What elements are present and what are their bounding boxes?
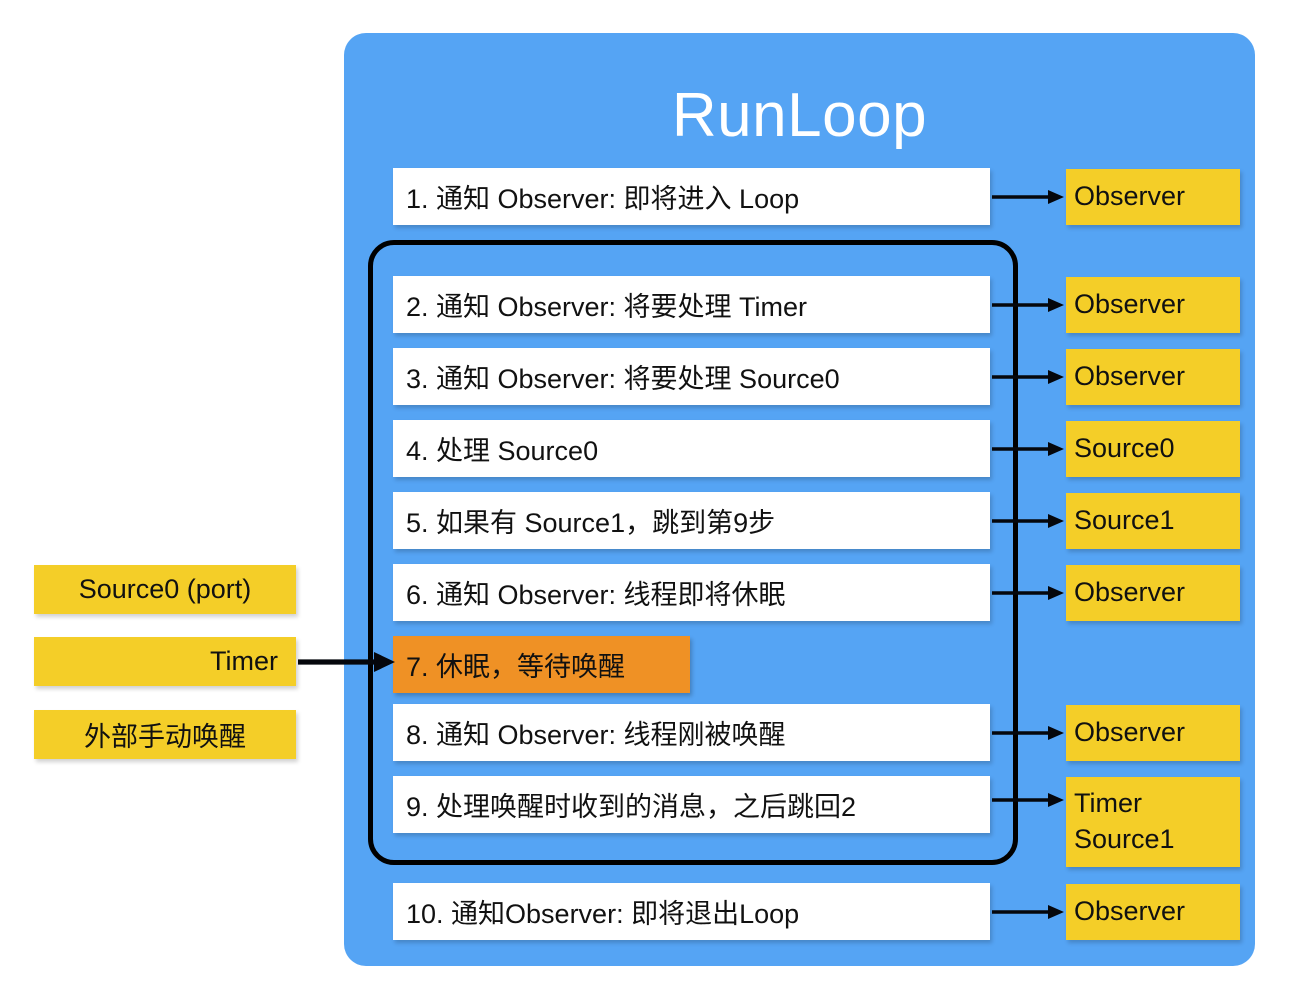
target-box-source0[interactable]: Source0 bbox=[1066, 421, 1240, 477]
wake-source-label: 外部手动唤醒 bbox=[84, 715, 246, 754]
step-label: 1. 通知 Observer: 即将进入 Loop bbox=[406, 177, 799, 216]
step-row-10[interactable]: 10. 通知Observer: 即将退出Loop bbox=[393, 883, 990, 940]
step-row-9[interactable]: 9. 处理唤醒时收到的消息，之后跳回2 bbox=[393, 776, 990, 833]
wake-source-timer[interactable]: Timer bbox=[34, 637, 296, 686]
step-row-6[interactable]: 6. 通知 Observer: 线程即将休眠 bbox=[393, 564, 990, 621]
wake-source-label: Timer bbox=[210, 646, 278, 677]
target-box-source1[interactable]: Source1 bbox=[1066, 493, 1240, 549]
step-label: 3. 通知 Observer: 将要处理 Source0 bbox=[406, 357, 840, 396]
target-box-observer-2[interactable]: Observer bbox=[1066, 277, 1240, 333]
page-title: RunLoop bbox=[344, 85, 1255, 147]
diagram-canvas: RunLoop 1. 通知 Observer: 即将进入 Loop 2. 通知 … bbox=[0, 0, 1294, 996]
target-label-line-2: Source1 bbox=[1074, 822, 1240, 858]
target-label: Observer bbox=[1074, 359, 1240, 395]
target-label: Observer bbox=[1074, 179, 1240, 215]
target-box-observer-6[interactable]: Observer bbox=[1066, 884, 1240, 940]
step-label: 2. 通知 Observer: 将要处理 Timer bbox=[406, 285, 807, 324]
step-label: 6. 通知 Observer: 线程即将休眠 bbox=[406, 573, 786, 612]
target-label: Observer bbox=[1074, 575, 1240, 611]
target-label: Source1 bbox=[1074, 503, 1240, 539]
step-row-7[interactable]: 7. 休眠，等待唤醒 bbox=[393, 636, 690, 693]
target-label: Observer bbox=[1074, 715, 1240, 751]
step-label: 10. 通知Observer: 即将退出Loop bbox=[406, 892, 799, 931]
target-label-line-1: Timer bbox=[1074, 786, 1240, 822]
step-row-1[interactable]: 1. 通知 Observer: 即将进入 Loop bbox=[393, 168, 990, 225]
step-row-4[interactable]: 4. 处理 Source0 bbox=[393, 420, 990, 477]
step-label: 5. 如果有 Source1，跳到第9步 bbox=[406, 501, 775, 540]
target-label: Source0 bbox=[1074, 431, 1240, 467]
target-box-observer-3[interactable]: Observer bbox=[1066, 349, 1240, 405]
step-label: 4. 处理 Source0 bbox=[406, 429, 598, 468]
target-box-observer-4[interactable]: Observer bbox=[1066, 565, 1240, 621]
step-row-5[interactable]: 5. 如果有 Source1，跳到第9步 bbox=[393, 492, 990, 549]
target-box-observer-5[interactable]: Observer bbox=[1066, 705, 1240, 761]
target-box-timer-source1[interactable]: Timer Source1 bbox=[1066, 777, 1240, 867]
wake-source-port[interactable]: Source0 (port) bbox=[34, 565, 296, 614]
step-row-8[interactable]: 8. 通知 Observer: 线程刚被唤醒 bbox=[393, 704, 990, 761]
step-row-3[interactable]: 3. 通知 Observer: 将要处理 Source0 bbox=[393, 348, 990, 405]
step-label: 9. 处理唤醒时收到的消息，之后跳回2 bbox=[406, 785, 856, 824]
target-label: Observer bbox=[1074, 287, 1240, 323]
target-label: Observer bbox=[1074, 894, 1240, 930]
step-row-2[interactable]: 2. 通知 Observer: 将要处理 Timer bbox=[393, 276, 990, 333]
target-box-observer-1[interactable]: Observer bbox=[1066, 169, 1240, 225]
step-label: 7. 休眠，等待唤醒 bbox=[406, 645, 625, 684]
step-label: 8. 通知 Observer: 线程刚被唤醒 bbox=[406, 713, 786, 752]
wake-source-manual[interactable]: 外部手动唤醒 bbox=[34, 710, 296, 759]
wake-source-label: Source0 (port) bbox=[79, 574, 252, 605]
